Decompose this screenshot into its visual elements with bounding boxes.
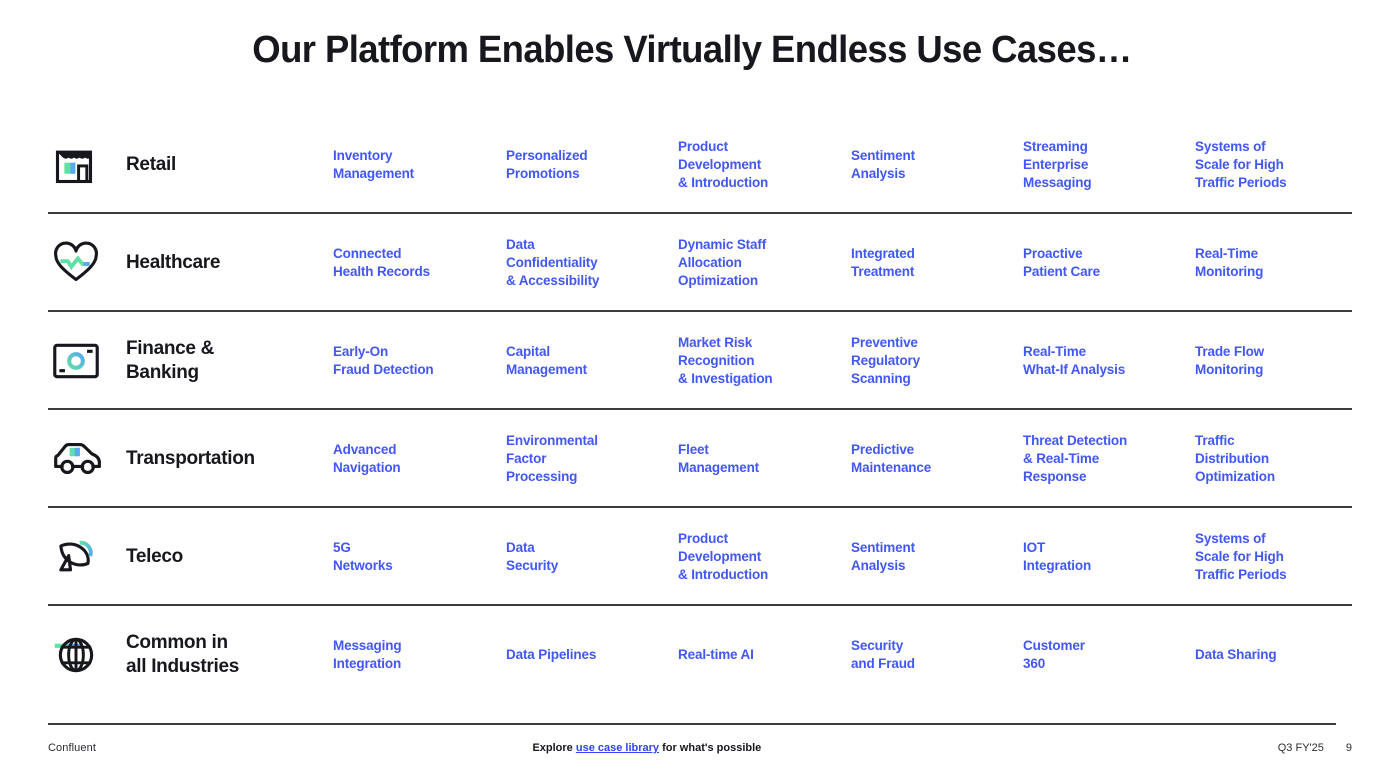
use-case-cell[interactable]: Streaming Enterprise Messaging [1023,122,1195,208]
use-case-cell[interactable]: Personalized Promotions [506,122,678,208]
car-icon [48,416,126,502]
table-row: Transportation Advanced Navigation Envir… [48,410,1352,508]
page-title: Our Platform Enables Virtually Endless U… [28,0,1357,74]
industry-label: Healthcare [126,220,333,306]
use-case-cell[interactable]: Inventory Management [333,122,506,208]
use-case-cell[interactable]: Capital Management [506,318,678,404]
use-case-cell[interactable]: Product Development & Introduction [678,122,851,208]
footer-cta: Explore use case library for what's poss… [56,742,1238,754]
use-case-cell[interactable]: 5G Networks [333,514,506,600]
use-case-cell[interactable]: IOT Integration [1023,514,1195,600]
use-case-cell[interactable]: Traffic Distribution Optimization [1195,416,1384,502]
industry-label: Transportation [126,416,333,502]
use-case-cell[interactable]: Real-time AI [678,612,851,698]
table-row: Teleco 5G Networks Data Security Product… [48,508,1352,606]
use-case-cell[interactable]: Connected Health Records [333,220,506,306]
use-case-cell[interactable]: Preventive Regulatory Scanning [851,318,1023,404]
industry-label: Teleco [126,514,333,600]
use-case-cell[interactable]: Integrated Treatment [851,220,1023,306]
use-case-cell[interactable]: Data Confidentiality & Accessibility [506,220,678,306]
use-case-cell[interactable]: Customer 360 [1023,612,1195,698]
banknote-icon [48,318,126,404]
page-number: 9 [1346,742,1352,754]
use-case-cell[interactable]: Data Sharing [1195,612,1384,698]
table-row: Finance & Banking Early-On Fraud Detecti… [48,312,1352,410]
use-case-cell[interactable]: Predictive Maintenance [851,416,1023,502]
industry-label: Finance & Banking [126,318,333,404]
footer-cta-prefix: Explore [532,742,575,754]
globe-icon [48,612,126,698]
use-case-cell[interactable]: Environmental Factor Processing [506,416,678,502]
use-case-cell[interactable]: Proactive Patient Care [1023,220,1195,306]
use-case-cell[interactable]: Systems of Scale for High Traffic Period… [1195,514,1384,600]
use-case-table: Retail Inventory Management Personalized… [48,116,1352,702]
table-row: Common in all Industries Messaging Integ… [48,606,1352,702]
satellite-dish-icon [48,514,126,600]
footer-meta: Q3 FY'25 9 [1278,742,1352,754]
use-case-cell[interactable]: Messaging Integration [333,612,506,698]
industry-label: Retail [126,122,333,208]
use-case-library-link[interactable]: use case library [576,742,659,754]
use-case-cell[interactable]: Security and Fraud [851,612,1023,698]
slide-footer: Confluent Explore use case library for w… [48,742,1352,754]
use-case-cell[interactable]: Sentiment Analysis [851,514,1023,600]
use-case-cell[interactable]: Systems of Scale for High Traffic Period… [1195,122,1384,208]
use-case-cell[interactable]: Real-Time Monitoring [1195,220,1384,306]
footer-divider [48,723,1336,725]
use-case-cell[interactable]: Trade Flow Monitoring [1195,318,1384,404]
use-case-cell[interactable]: Data Pipelines [506,612,678,698]
footer-cta-suffix: for what's possible [659,742,761,754]
use-case-cell[interactable]: Product Development & Introduction [678,514,851,600]
quarter-label: Q3 FY'25 [1278,742,1324,754]
storefront-icon [48,122,126,208]
use-case-cell[interactable]: Advanced Navigation [333,416,506,502]
heart-pulse-icon [48,220,126,306]
use-case-cell[interactable]: Early-On Fraud Detection [333,318,506,404]
use-case-cell[interactable]: Real-Time What-If Analysis [1023,318,1195,404]
table-row: Retail Inventory Management Personalized… [48,116,1352,214]
use-case-cell[interactable]: Data Security [506,514,678,600]
use-case-cell[interactable]: Fleet Management [678,416,851,502]
industry-label: Common in all Industries [126,612,333,698]
use-case-cell[interactable]: Sentiment Analysis [851,122,1023,208]
use-case-cell[interactable]: Market Risk Recognition & Investigation [678,318,851,404]
use-case-cell[interactable]: Threat Detection & Real-Time Response [1023,416,1195,502]
table-row: Healthcare Connected Health Records Data… [48,214,1352,312]
use-case-cell[interactable]: Dynamic Staff Allocation Optimization [678,220,851,306]
